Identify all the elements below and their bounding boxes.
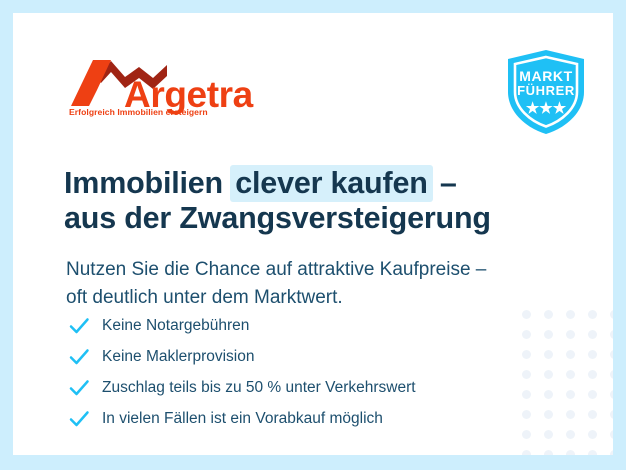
dot (610, 410, 613, 419)
dot (588, 450, 597, 455)
page-subtitle: Nutzen Sie die Chance auf attraktive Kau… (66, 256, 546, 312)
dot (566, 450, 575, 455)
dot (566, 370, 575, 379)
dot (544, 390, 553, 399)
promo-banner: Argetra Erfolgreich Immobilien ersteiger… (0, 0, 626, 470)
dot (544, 450, 553, 455)
benefits-list: Keine Notargebühren Keine Maklerprovisio… (68, 310, 508, 434)
check-icon (68, 346, 90, 368)
dot (522, 350, 531, 359)
dot (544, 410, 553, 419)
dot (588, 310, 597, 319)
check-icon (68, 408, 90, 430)
badge-line-2: FÜHRER (502, 84, 590, 98)
list-item: Zuschlag teils bis zu 50 % unter Verkehr… (68, 372, 508, 403)
dot (522, 410, 531, 419)
subtitle-line-2: oft deutlich unter dem Marktwert. (66, 287, 343, 308)
dot (588, 410, 597, 419)
dot (588, 390, 597, 399)
dot-grid-decoration (522, 310, 613, 455)
list-item-label: Keine Maklerprovision (102, 347, 255, 367)
dot (588, 350, 597, 359)
markt-fuehrer-badge: MARKT FÜHRER ★★★ (502, 48, 590, 136)
dot (566, 330, 575, 339)
dot (566, 430, 575, 439)
headline-part-3: – (432, 166, 457, 200)
dot (544, 330, 553, 339)
dot (610, 350, 613, 359)
dot (588, 370, 597, 379)
dot (566, 350, 575, 359)
dot (610, 390, 613, 399)
check-icon (68, 377, 90, 399)
dot (544, 370, 553, 379)
logo-tagline: Erfolgreich Immobilien ersteigern (69, 107, 208, 117)
headline-highlight: clever kaufen (230, 165, 432, 202)
list-item: Keine Maklerprovision (68, 341, 508, 372)
dot (610, 330, 613, 339)
dot (610, 370, 613, 379)
dot (522, 330, 531, 339)
list-item-label: Keine Notargebühren (102, 316, 249, 336)
dot (522, 370, 531, 379)
badge-line-1: MARKT (502, 69, 590, 84)
list-item: Keine Notargebühren (68, 310, 508, 341)
list-item-label: In vielen Fällen ist ein Vorabkauf mögli… (102, 409, 383, 429)
content-card: Argetra Erfolgreich Immobilien ersteiger… (13, 13, 613, 455)
argetra-logo[interactable]: Argetra Erfolgreich Immobilien ersteiger… (67, 58, 267, 128)
dot (610, 430, 613, 439)
dot (610, 310, 613, 319)
headline-line-2: aus der Zwangsversteigerung (64, 201, 491, 235)
subtitle-line-1: Nutzen Sie die Chance auf attraktive Kau… (66, 259, 486, 280)
dot (566, 390, 575, 399)
dot (544, 350, 553, 359)
dot (522, 430, 531, 439)
page-headline: Immobilien clever kaufen –aus der Zwangs… (64, 166, 534, 236)
check-icon (68, 315, 90, 337)
dot (544, 430, 553, 439)
dot (566, 410, 575, 419)
list-item: In vielen Fällen ist ein Vorabkauf mögli… (68, 403, 508, 434)
dot (522, 390, 531, 399)
badge-stars: ★★★ (502, 101, 590, 117)
dot (588, 430, 597, 439)
list-item-label: Zuschlag teils bis zu 50 % unter Verkehr… (102, 378, 416, 398)
dot (610, 450, 613, 455)
dot (566, 310, 575, 319)
headline-part-1: Immobilien (64, 166, 231, 200)
dot (588, 330, 597, 339)
dot (522, 450, 531, 455)
